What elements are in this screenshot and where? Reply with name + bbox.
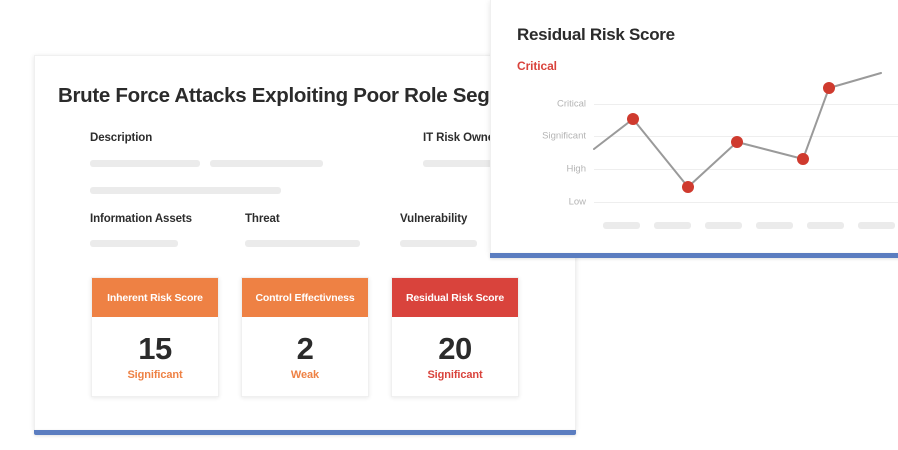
score-card-header: Control Effectivness bbox=[242, 278, 368, 317]
skeleton-bar bbox=[400, 240, 477, 247]
x-axis-tick-skeleton bbox=[654, 222, 691, 229]
description-label: Description bbox=[90, 132, 390, 144]
score-card-inherent-risk[interactable]: Inherent Risk Score 15 Significant bbox=[91, 277, 219, 397]
skeleton-bar bbox=[210, 160, 323, 167]
score-value: 2 bbox=[297, 333, 314, 364]
risk-card-accent-bar bbox=[34, 430, 576, 435]
score-card-body: 15 Significant bbox=[92, 317, 218, 396]
threat-label: Threat bbox=[245, 213, 400, 225]
information-assets-field: Information Assets bbox=[90, 213, 245, 247]
chart-data-point[interactable] bbox=[731, 136, 743, 148]
score-value: 15 bbox=[138, 333, 171, 364]
score-card-control-effectiveness[interactable]: Control Effectivness 2 Weak bbox=[241, 277, 369, 397]
score-card-residual-risk[interactable]: Residual Risk Score 20 Significant bbox=[391, 277, 519, 397]
chart-line-series bbox=[491, 0, 898, 253]
x-axis-tick-skeleton bbox=[603, 222, 640, 229]
x-axis-tick-skeleton bbox=[756, 222, 793, 229]
score-card-body: 20 Significant bbox=[392, 317, 518, 396]
threat-field: Threat bbox=[245, 213, 400, 247]
score-rating: Significant bbox=[427, 369, 482, 381]
description-skeleton bbox=[90, 160, 390, 194]
chart-data-point[interactable] bbox=[823, 82, 835, 94]
chart-data-point[interactable] bbox=[627, 113, 639, 125]
x-axis-tick-skeleton bbox=[807, 222, 844, 229]
score-card-body: 2 Weak bbox=[242, 317, 368, 396]
skeleton-bar bbox=[90, 160, 200, 167]
score-rating: Weak bbox=[291, 369, 319, 381]
chart-data-point[interactable] bbox=[682, 181, 694, 193]
chart-plot-area: CriticalSignificantHighLow bbox=[491, 0, 898, 253]
residual-risk-chart-panel: Residual Risk Score Critical CriticalSig… bbox=[490, 0, 898, 253]
information-assets-label: Information Assets bbox=[90, 213, 245, 225]
skeleton-bar bbox=[90, 187, 281, 194]
x-axis-tick-skeleton bbox=[858, 222, 895, 229]
description-field: Description bbox=[90, 132, 390, 194]
skeleton-bar bbox=[245, 240, 360, 247]
score-card-group: Inherent Risk Score 15 Significant Contr… bbox=[91, 277, 519, 397]
chart-panel-accent-bar bbox=[490, 253, 898, 258]
score-card-header: Inherent Risk Score bbox=[92, 278, 218, 317]
x-axis-tick-skeleton bbox=[705, 222, 742, 229]
score-rating: Significant bbox=[127, 369, 182, 381]
score-value: 20 bbox=[438, 333, 471, 364]
score-card-header: Residual Risk Score bbox=[392, 278, 518, 317]
skeleton-bar bbox=[90, 240, 178, 247]
chart-data-point[interactable] bbox=[797, 153, 809, 165]
